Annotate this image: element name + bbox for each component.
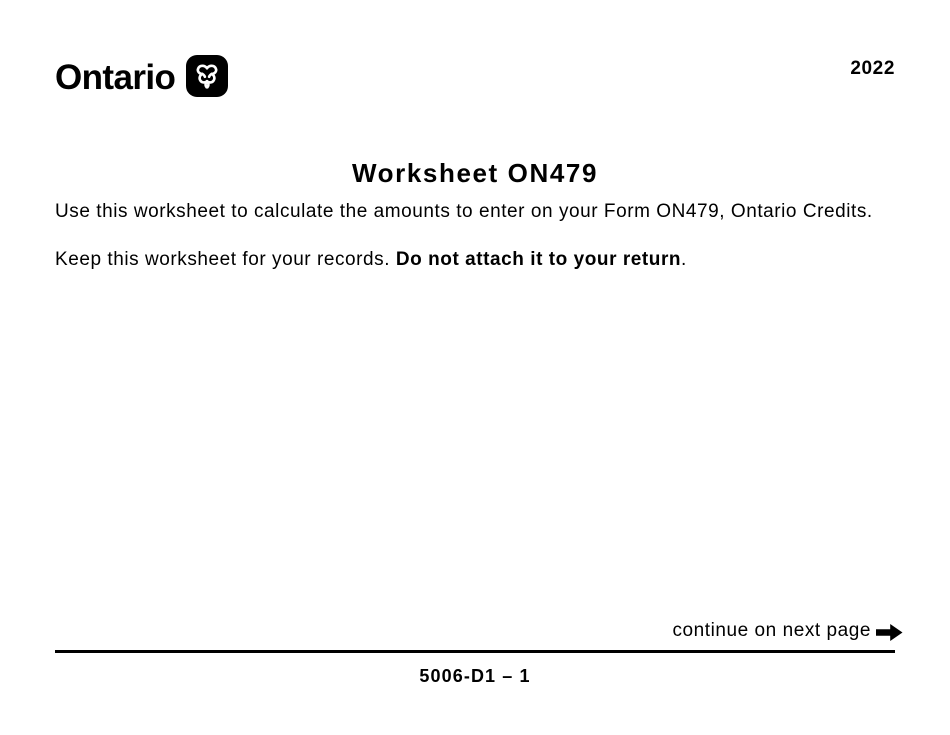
do-not-attach-emphasis: Do not attach it to your return xyxy=(396,249,681,270)
tax-year: 2022 xyxy=(850,58,895,80)
page-header: Ontario xyxy=(55,55,895,115)
ontario-trillium-icon xyxy=(186,55,228,97)
intro-paragraph-2-lead: Keep this worksheet for your records. xyxy=(55,249,396,270)
intro-text: Use this worksheet to calculate the amou… xyxy=(55,198,885,274)
page-title: Worksheet ON479 xyxy=(0,158,950,189)
worksheet-page: Ontario xyxy=(0,0,950,735)
continue-on-next-page: continue on next page xyxy=(672,620,895,642)
intro-paragraph-2-tail: . xyxy=(681,249,687,270)
form-code: 5006-D1 – 1 xyxy=(0,666,950,687)
intro-paragraph-1: Use this worksheet to calculate the amou… xyxy=(55,198,885,226)
intro-paragraph-2: Keep this worksheet for your records. Do… xyxy=(55,246,885,274)
footer-divider xyxy=(55,650,895,653)
ontario-wordmark: Ontario xyxy=(55,60,175,95)
arrow-right-icon xyxy=(876,621,895,642)
continue-label: continue on next page xyxy=(672,620,871,642)
ontario-logo: Ontario xyxy=(55,55,228,97)
